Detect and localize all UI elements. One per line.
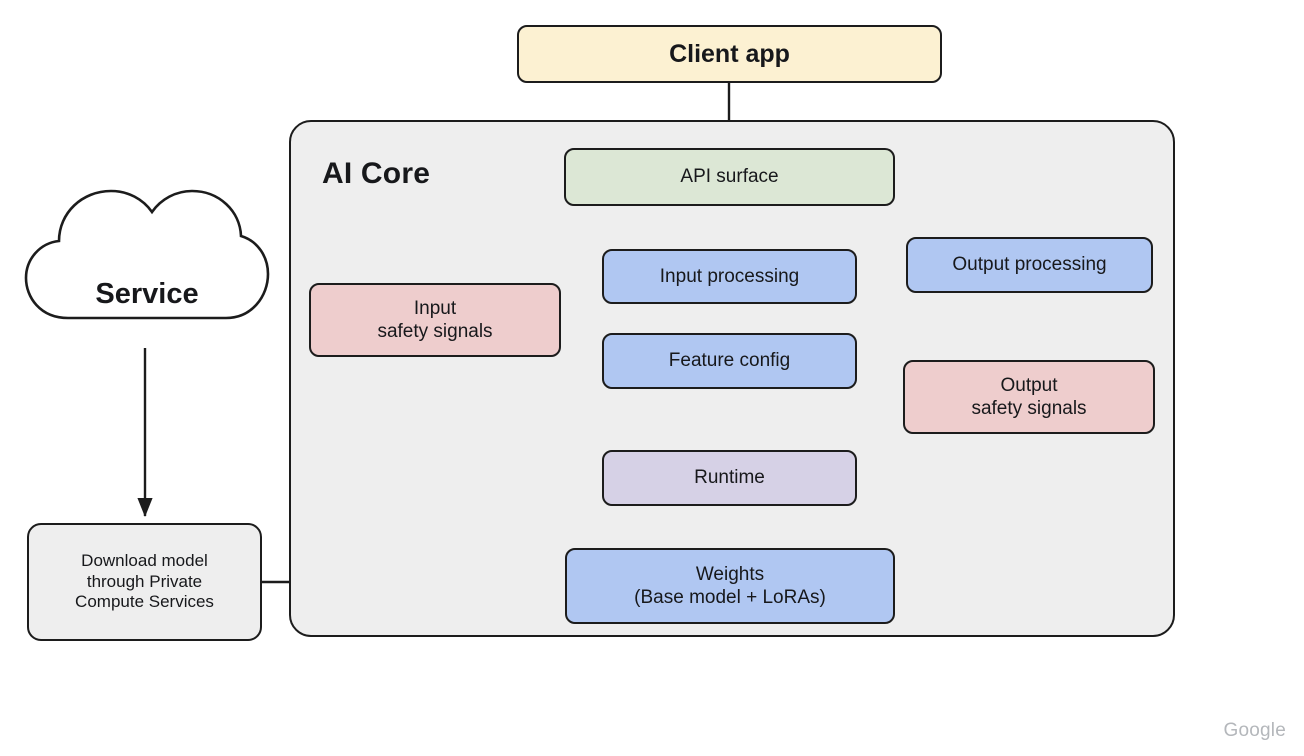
diagram-canvas: AI Core (0, 0, 1304, 756)
node-client-app[interactable]: Client app (517, 25, 942, 83)
node-feature-config[interactable]: Feature config (602, 333, 857, 389)
service-label: Service (37, 278, 257, 311)
node-weights[interactable]: Weights (Base model + LoRAs) (565, 548, 895, 624)
node-runtime[interactable]: Runtime (602, 450, 857, 506)
node-api-surface[interactable]: API surface (564, 148, 895, 206)
ai-core-label: AI Core (322, 157, 430, 191)
node-download-model[interactable]: Download model through Private Compute S… (27, 523, 262, 641)
google-watermark: Google (1224, 720, 1286, 742)
node-output-processing[interactable]: Output processing (906, 237, 1153, 293)
node-input-safety-signals[interactable]: Input safety signals (309, 283, 561, 357)
node-input-processing[interactable]: Input processing (602, 249, 857, 304)
node-output-safety-signals[interactable]: Output safety signals (903, 360, 1155, 434)
